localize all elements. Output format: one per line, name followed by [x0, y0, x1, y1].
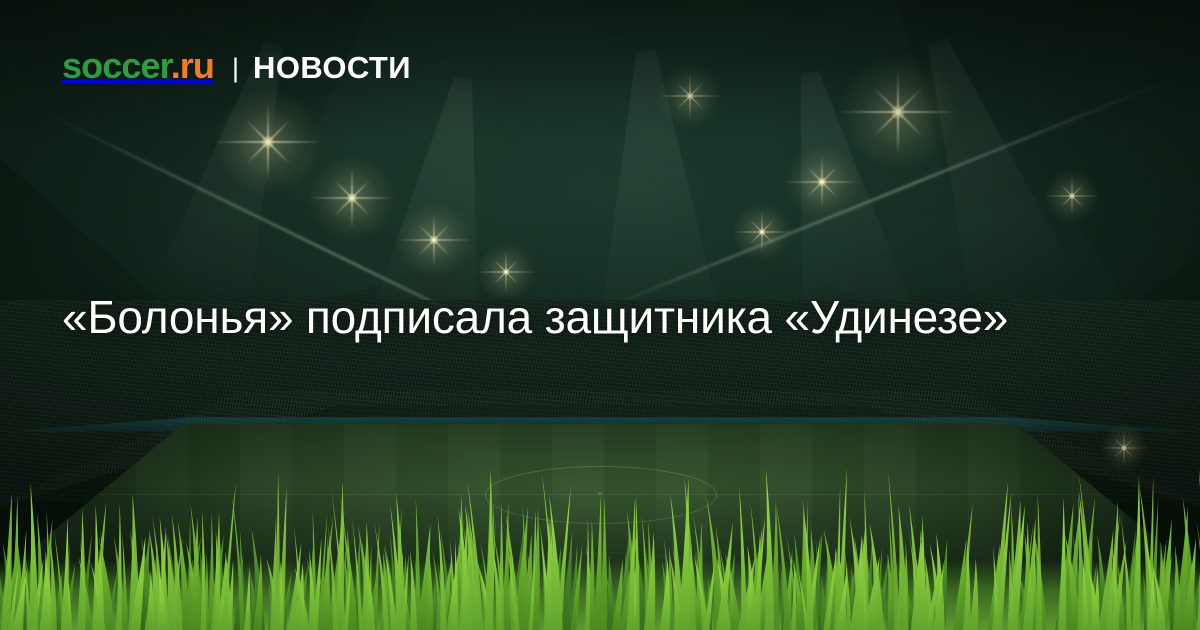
header-section-label: НОВОСТИ [253, 52, 411, 83]
news-share-card: soccer.ru | НОВОСТИ «Болонья» подписала … [0, 0, 1200, 630]
light-ray [736, 58, 950, 430]
roof-rail-right [597, 76, 1177, 313]
foreground-grass [0, 445, 1200, 630]
grass-blade [77, 508, 85, 630]
logo-word: soccer [62, 45, 171, 86]
grass-blade [29, 483, 38, 630]
grass-blades-svg [0, 445, 1200, 630]
grass-blade [765, 469, 775, 630]
roof-rail-left [47, 114, 609, 390]
grass-blade [585, 519, 590, 630]
article-headline: «Болонья» подписала защитника «Удинезе» [62, 289, 1072, 345]
grass-blade [739, 487, 747, 630]
header-separator: | [232, 55, 239, 82]
grass-blade [361, 521, 370, 630]
site-logo[interactable]: soccer.ru [62, 48, 214, 84]
site-header: soccer.ru | НОВОСТИ [62, 48, 411, 84]
light-ray [566, 46, 746, 434]
light-ray [333, 66, 537, 445]
logo-tld: .ru [171, 45, 214, 86]
